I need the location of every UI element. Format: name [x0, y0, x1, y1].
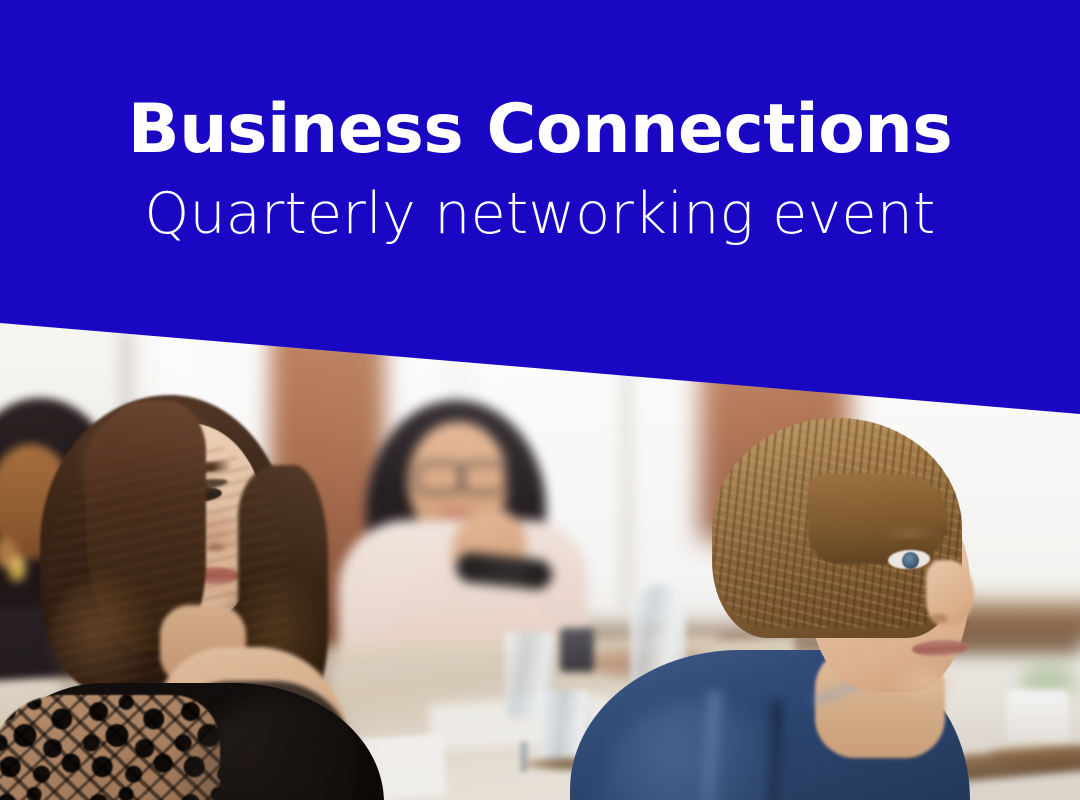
event-banner-card: Business Connections Quarterly networkin… [0, 0, 1080, 800]
chin [890, 662, 960, 702]
page-title: Business Connections [0, 96, 1080, 164]
page-subtitle: Quarterly networking event [0, 186, 1080, 243]
iris [902, 552, 919, 569]
nostril [930, 614, 948, 623]
banner-text-block: Business Connections Quarterly networkin… [0, 0, 1080, 243]
glasses-icon [416, 462, 462, 494]
fringe [808, 474, 948, 564]
dark-cup [560, 628, 594, 672]
glasses-icon [461, 462, 507, 494]
glass-stem [520, 742, 528, 772]
woman-left-foreground [0, 395, 380, 800]
person-right-foreground [640, 400, 1080, 800]
